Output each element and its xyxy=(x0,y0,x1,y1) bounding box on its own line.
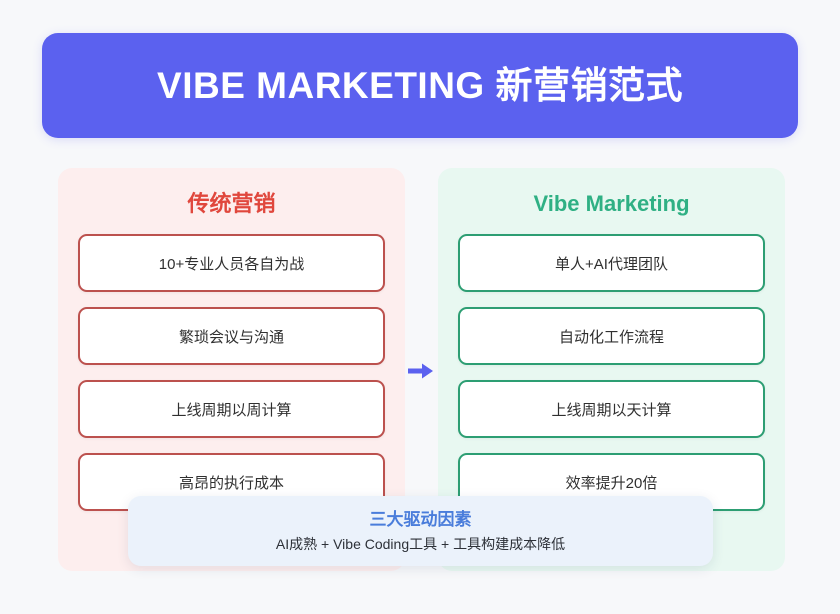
list-item: 单人+AI代理团队 xyxy=(458,234,765,292)
list-item: 繁琐会议与沟通 xyxy=(78,307,385,365)
infographic-root: VIBE MARKETING 新营销范式 传统营销 10+专业人员各自为战 繁琐… xyxy=(0,0,840,614)
drivers-title: 三大驱动因素 xyxy=(370,511,472,528)
list-item: 上线周期以天计算 xyxy=(458,380,765,438)
list-item: 10+专业人员各自为战 xyxy=(78,234,385,292)
list-item: 自动化工作流程 xyxy=(458,307,765,365)
drivers-card: 三大驱动因素 AI成熟 + Vibe Coding工具 + 工具构建成本降低 xyxy=(128,496,713,566)
panel-title-vibe: Vibe Marketing xyxy=(458,193,765,215)
drivers-subtitle: AI成熟 + Vibe Coding工具 + 工具构建成本降低 xyxy=(276,537,565,551)
arrow-right-icon xyxy=(408,361,434,381)
list-item: 上线周期以周计算 xyxy=(78,380,385,438)
page-title: VIBE MARKETING 新营销范式 xyxy=(157,67,683,104)
header-banner: VIBE MARKETING 新营销范式 xyxy=(42,33,798,138)
panel-title-traditional: 传统营销 xyxy=(78,193,385,215)
